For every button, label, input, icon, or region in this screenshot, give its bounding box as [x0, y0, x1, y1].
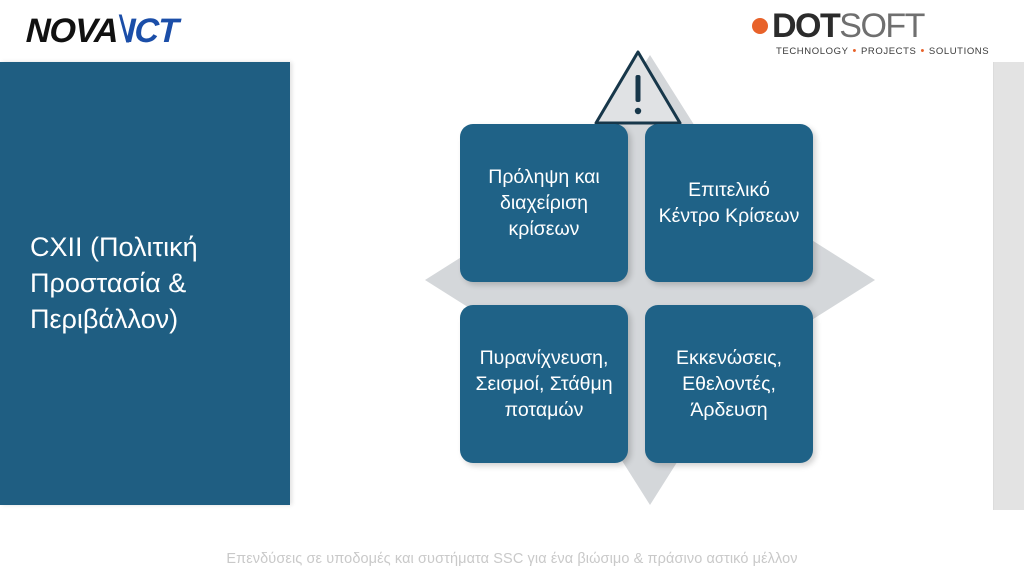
diagram-box-label: Επιτελικό Κέντρο Κρίσεων	[657, 177, 801, 230]
dotsoft-light-part: SOFT	[839, 7, 924, 46]
footer-caption: Επενδύσεις σε υποδομές και συστήματα SSC…	[0, 551, 1024, 567]
diagram-box-label: Εκκενώσεις, Εθελοντές, Άρδευση	[657, 345, 801, 424]
diagram-box-bottom-right[interactable]: Εκκενώσεις, Εθελοντές, Άρδευση	[645, 305, 813, 463]
diagram-box-top-left[interactable]: Πρόληψη και διαχείριση κρίσεων	[460, 124, 628, 282]
slide-canvas: NOVA \ ICT DOT SOFT TECHNOLOGY • PROJECT…	[0, 0, 1024, 576]
page-title: CXII (Πολιτική Προστασία & Περιβάλλον)	[30, 230, 270, 338]
tagline-separator-icon: •	[920, 46, 924, 57]
dotsoft-wordmark-row: DOT SOFT	[752, 8, 972, 44]
nova-ict-logo: NOVA \ ICT	[26, 10, 178, 52]
warning-triangle-icon	[592, 47, 684, 127]
ict-wordmark: ICT	[126, 12, 179, 51]
dotsoft-bold-part: DOT	[772, 7, 839, 46]
diagram-box-label: Πρόληψη και διαχείριση κρίσεων	[472, 164, 616, 243]
right-edge-strip	[993, 62, 1024, 510]
diagram-box-top-right[interactable]: Επιτελικό Κέντρο Κρίσεων	[645, 124, 813, 282]
tagline-item-solutions: SOLUTIONS	[929, 46, 989, 57]
nova-wordmark: NOVA	[25, 12, 118, 51]
dotsoft-dot-icon	[752, 18, 768, 34]
diagram-box-label: Πυρανίχνευση, Σεισμοί, Στάθμη ποταμών	[472, 345, 616, 424]
title-panel: CXII (Πολιτική Προστασία & Περιβάλλον)	[0, 62, 290, 505]
diagram-box-bottom-left[interactable]: Πυρανίχνευση, Σεισμοί, Στάθμη ποταμών	[460, 305, 628, 463]
